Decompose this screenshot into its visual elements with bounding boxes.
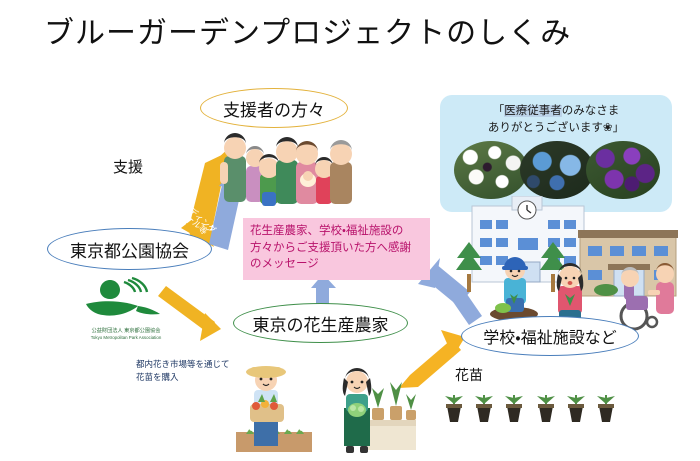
- thanks-message-text: 「医療従事者のみなさま ありがとうございます❀」: [440, 103, 672, 136]
- logo-caption: 公益財団法人 東京都公園協会 Tokyo Metropolitan Park A…: [72, 329, 180, 340]
- node-supporters[interactable]: 支援者の方々: [200, 88, 348, 128]
- purchase-note-line2: 花苗を購入: [136, 372, 179, 382]
- tokyo-park-association-logo: [80, 276, 170, 328]
- farmer-man-illustration: [228, 358, 320, 458]
- logo-org-en: Tokyo Metropolitan Park Association: [72, 335, 180, 340]
- wheelchair-elderly-illustration: [612, 260, 682, 332]
- farmer-woman-illustration: [320, 358, 416, 458]
- boy-planting-illustration: [486, 252, 542, 320]
- node-schools-label: 学校・福祉施設など: [483, 324, 616, 348]
- purple-petunia-photo: [586, 141, 660, 199]
- page-title: ブルーガーデンプロジェクトのしくみ: [44, 8, 571, 52]
- thanks-message-panel: 「医療従事者のみなさま ありがとうございます❀」: [440, 95, 672, 212]
- label-purchase-note: 都内花き市場等を通じて 花苗を購入: [136, 358, 230, 384]
- thanks-message-box: 花生産農家、学校・福祉施設の 方々からご支援頂いた方へ感謝 のメッセージ: [243, 218, 430, 280]
- message-line-3: のメッセージ: [250, 258, 319, 270]
- highlight-text: 医療従事者: [504, 105, 562, 117]
- node-association-label: 東京都公園協会: [70, 237, 189, 262]
- thanks-line1-rest: のみなさま: [562, 105, 620, 117]
- node-schools[interactable]: 学校・福祉施設など: [461, 316, 639, 356]
- message-line-1: 花生産農家、学校・福祉施設の: [250, 225, 403, 237]
- label-support: 支援: [113, 156, 143, 177]
- supporters-family-illustration: [218, 122, 358, 210]
- node-association[interactable]: 東京都公園協会: [47, 228, 212, 270]
- seedling-pots-illustration: [440, 382, 620, 426]
- flower-emoji-icon: ❀: [603, 122, 613, 134]
- arrow-thanks-panel-down: [449, 287, 482, 325]
- quote-open: 「: [493, 105, 505, 117]
- thanks-line2: ありがとうございます: [488, 122, 603, 134]
- white-pansy-photo: [454, 141, 528, 199]
- node-farmers[interactable]: 東京の花生産農家: [233, 303, 408, 343]
- flower-photo-row: [452, 139, 662, 201]
- blue-flower-photo: [520, 141, 594, 199]
- quote-close: 」: [613, 122, 625, 134]
- message-line-2: 方々からご支援頂いた方へ感謝: [250, 242, 411, 254]
- node-farmers-label: 東京の花生産農家: [253, 311, 389, 336]
- node-supporters-label: 支援者の方々: [223, 96, 325, 121]
- tree-left-illustration: [452, 240, 486, 292]
- purchase-note-line1: 都内花き市場等を通じて: [136, 359, 230, 369]
- slide-canvas: ブルーガーデンプロジェクトのしくみ: [0, 0, 700, 461]
- label-flower-seedlings: 花苗: [455, 365, 483, 385]
